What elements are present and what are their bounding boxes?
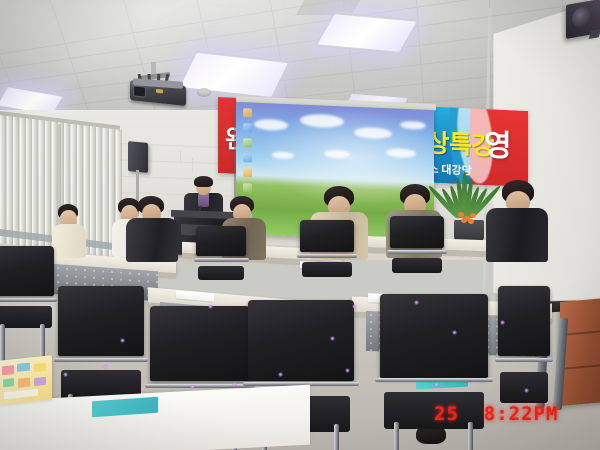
attendee-left-dark (126, 196, 178, 262)
ceiling-light-icon (318, 14, 417, 52)
speaker-icon (566, 0, 600, 39)
wooden-cabinet (560, 298, 600, 406)
chair (300, 220, 354, 276)
chair (390, 216, 444, 272)
camera-timestamp: 25 8:22PM (434, 403, 558, 425)
banner-right-text: 영 (484, 131, 512, 162)
speaker-icon (128, 141, 148, 173)
jar-yellow (136, 390, 192, 446)
smoke-detector-icon (197, 88, 211, 97)
jar-blue (58, 426, 118, 450)
seminar-room-photograph: 완 FCS 일시:3월 민 임상특강 연구소 대강당 영 (0, 0, 600, 450)
chair (0, 246, 54, 332)
attendee-right-suit (486, 180, 548, 260)
chair (196, 226, 246, 278)
attendee-left-rear (52, 204, 86, 256)
